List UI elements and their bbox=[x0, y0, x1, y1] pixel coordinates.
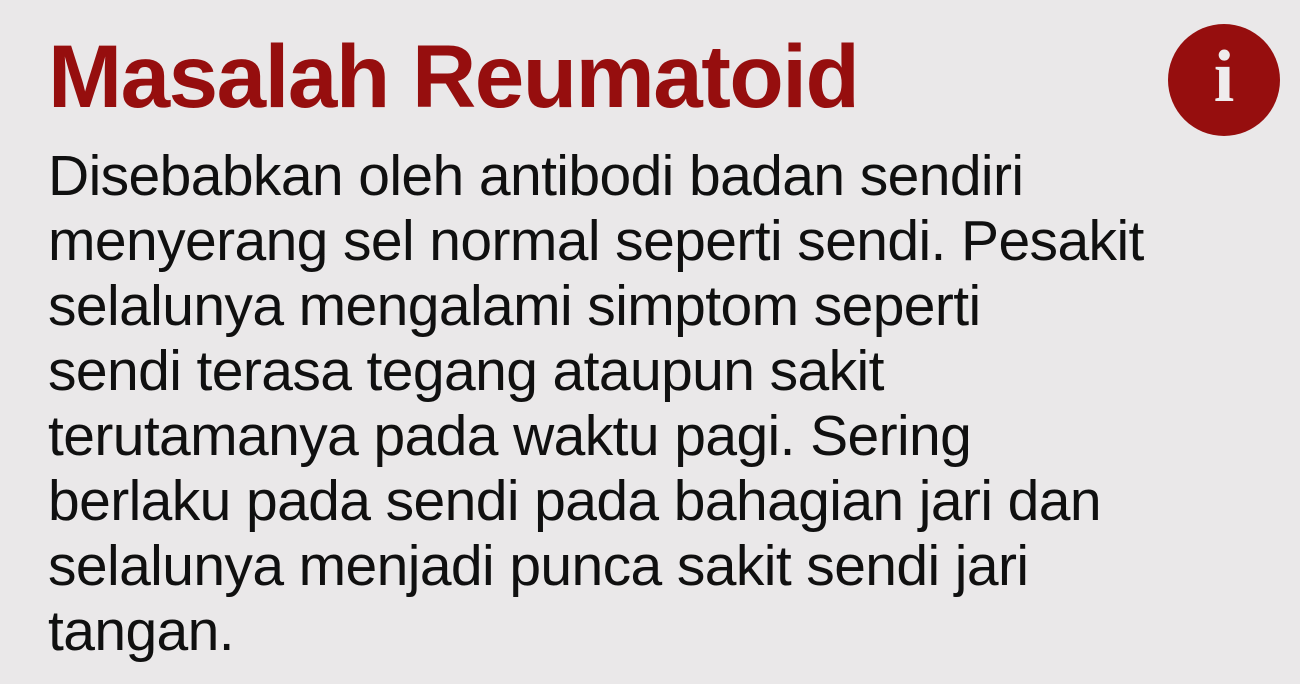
body-text: Disebabkan oleh antibodi badan sendiri m… bbox=[48, 144, 1278, 664]
body-line: berlaku pada sendi pada bahagian jari da… bbox=[48, 469, 1278, 534]
info-icon: i bbox=[1168, 24, 1280, 136]
body-line: selalunya mengalami simptom seperti bbox=[48, 274, 1278, 339]
body-line: terutamanya pada waktu pagi. Sering bbox=[48, 404, 1278, 469]
page-title: Masalah Reumatoid bbox=[48, 24, 858, 128]
body-line: selalunya menjadi punca sakit sendi jari bbox=[48, 534, 1278, 599]
info-card: i Masalah Reumatoid Disebabkan oleh anti… bbox=[0, 0, 1300, 684]
body-line: menyerang sel normal seperti sendi. Pesa… bbox=[48, 209, 1278, 274]
body-line: sendi terasa tegang ataupun sakit bbox=[48, 339, 1278, 404]
info-icon-glyph: i bbox=[1214, 40, 1235, 114]
body-line: tangan. bbox=[48, 599, 1278, 664]
body-line: Disebabkan oleh antibodi badan sendiri bbox=[48, 144, 1278, 209]
